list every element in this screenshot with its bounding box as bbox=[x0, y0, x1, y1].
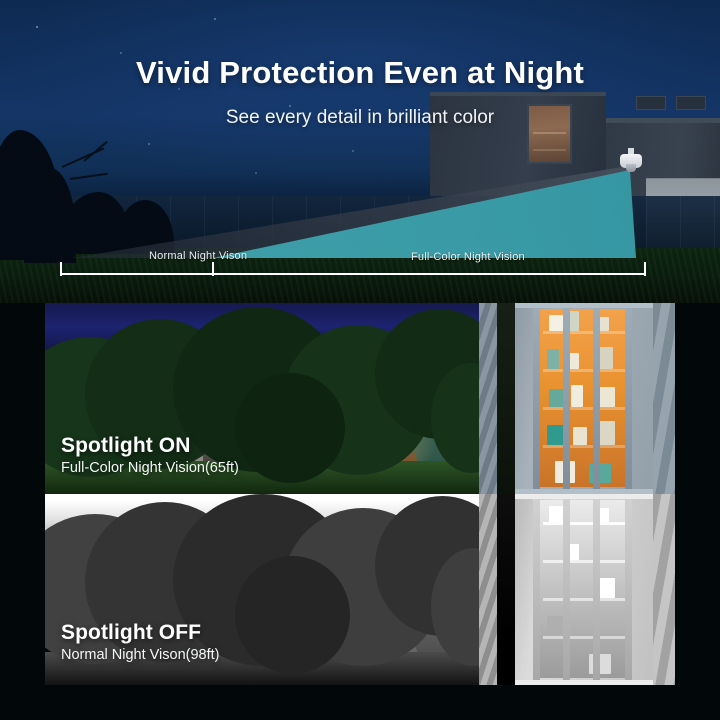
shelf-item bbox=[573, 427, 587, 445]
side-siding bbox=[479, 303, 497, 494]
star-icon bbox=[120, 52, 122, 54]
foliage bbox=[235, 373, 345, 483]
shelf-item bbox=[571, 385, 583, 407]
window-mullion bbox=[533, 303, 540, 494]
measure-tick-end bbox=[644, 262, 646, 276]
window-mullion bbox=[625, 494, 632, 685]
window-closeup-grayscale bbox=[497, 494, 675, 685]
window-closeup-color bbox=[497, 303, 675, 494]
window-mullion bbox=[593, 303, 600, 494]
page-title: Vivid Protection Even at Night bbox=[0, 55, 720, 91]
star-icon bbox=[148, 143, 150, 145]
panel-title: Spotlight OFF bbox=[61, 621, 220, 645]
measure-line bbox=[60, 273, 646, 275]
window-head-frame bbox=[515, 303, 653, 308]
star-icon bbox=[352, 150, 354, 152]
page-subtitle: See every detail in brilliant color bbox=[0, 107, 720, 129]
window-mullion bbox=[563, 303, 570, 494]
measure-tick-mid bbox=[212, 262, 214, 276]
panel-label-spotlight-off: Spotlight OFF Normal Night Vison(98ft) bbox=[61, 621, 220, 664]
shelf-item bbox=[569, 311, 579, 331]
interior-shelf bbox=[543, 331, 627, 334]
range-measure-bar bbox=[60, 262, 646, 278]
star-icon bbox=[36, 26, 38, 28]
panel-title: Spotlight ON bbox=[61, 434, 239, 458]
security-camera-icon bbox=[620, 148, 642, 174]
camera-lens bbox=[626, 164, 636, 172]
hero-banner: Normal Night Vison Full-Color Night Visi… bbox=[0, 0, 720, 303]
interior-shelf bbox=[543, 636, 627, 639]
window-mullion bbox=[625, 303, 632, 494]
foliage bbox=[235, 556, 350, 674]
window-mullion bbox=[593, 494, 600, 685]
interior-shelf bbox=[543, 598, 627, 601]
interior-shelf bbox=[543, 407, 627, 410]
shelf-item bbox=[549, 315, 563, 331]
star-icon bbox=[255, 172, 257, 174]
measure-tick-start bbox=[60, 262, 62, 276]
dark-hedge bbox=[497, 303, 515, 494]
dark-hedge bbox=[497, 494, 515, 685]
interior bbox=[539, 500, 631, 678]
panel-label-spotlight-on: Spotlight ON Full-Color Night Vision(65f… bbox=[61, 434, 239, 477]
cone-label-normal: Normal Night Vison bbox=[149, 250, 247, 262]
interior-shelf bbox=[543, 369, 627, 372]
house-roof-edge bbox=[430, 92, 606, 96]
shelf-item bbox=[549, 506, 563, 522]
interior-shelf bbox=[543, 560, 627, 563]
comparison-panels: Spotlight ON Full-Color Night Vision(65f… bbox=[45, 303, 675, 685]
panel-spotlight-on: Spotlight ON Full-Color Night Vision(65f… bbox=[45, 303, 675, 494]
shelf-item bbox=[547, 349, 559, 369]
side-siding bbox=[479, 494, 497, 685]
interior-shelf bbox=[543, 445, 627, 448]
panel-spotlight-off: Spotlight OFF Normal Night Vison(98ft) bbox=[45, 494, 675, 685]
interior-shelf bbox=[543, 522, 627, 525]
window-sill bbox=[515, 680, 653, 685]
window-mullion bbox=[533, 494, 540, 685]
panel-subtitle: Full-Color Night Vision(65ft) bbox=[61, 460, 239, 477]
window-head-frame bbox=[515, 494, 653, 499]
window-mullion bbox=[563, 494, 570, 685]
panel-subtitle: Normal Night Vison(98ft) bbox=[61, 647, 220, 664]
star-icon bbox=[214, 18, 216, 20]
